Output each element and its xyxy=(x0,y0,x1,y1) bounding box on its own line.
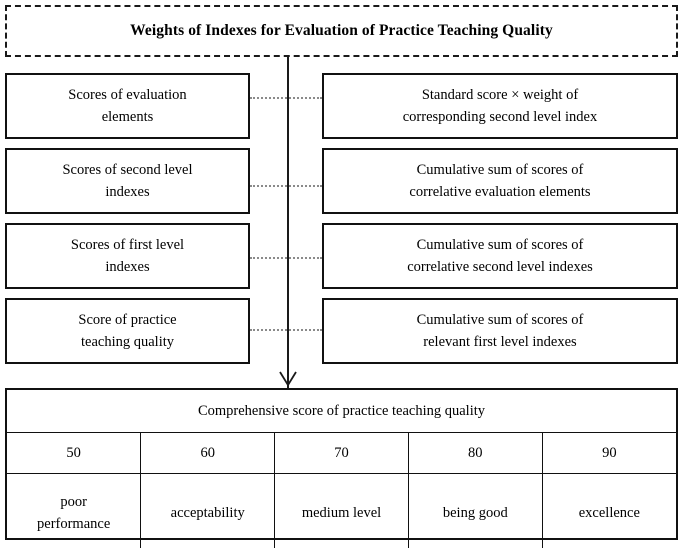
node-label-line1: Cumulative sum of scores of xyxy=(417,237,584,253)
node-label: Scores of evaluation elements xyxy=(68,84,186,129)
score-cell-60: 60 xyxy=(141,433,275,474)
score-table: Comprehensive score of practice teaching… xyxy=(7,390,676,548)
node-label: Scores of second level indexes xyxy=(62,159,192,204)
node-label: Scores of first level indexes xyxy=(71,234,184,279)
node-label-line2: corresponding second level index xyxy=(403,109,597,125)
node-scores-of-first-level-indexes: Scores of first level indexes xyxy=(5,223,250,289)
level-cell-excellence: excellence xyxy=(542,474,676,548)
dotted-connector-1 xyxy=(250,97,322,99)
node-label-line2: correlative second level indexes xyxy=(407,259,593,275)
node-label-line2: relevant first level indexes xyxy=(423,334,576,350)
node-label-line2: teaching quality xyxy=(81,334,174,350)
score-cell-90: 90 xyxy=(542,433,676,474)
flow-arrow-line xyxy=(287,57,289,388)
node-scores-of-second-level-indexes: Scores of second level indexes xyxy=(5,148,250,214)
node-label-line2: elements xyxy=(102,109,154,125)
level-cell-poor-performance: poor performance xyxy=(7,474,141,548)
node-label-line1: Scores of evaluation xyxy=(68,87,186,103)
level-cell-being-good: being good xyxy=(408,474,542,548)
node-label-line1: Score of practice xyxy=(78,312,176,328)
score-cell-80: 80 xyxy=(408,433,542,474)
node-standard-score-times-weight: Standard score × weight of corresponding… xyxy=(322,73,678,139)
node-label: Score of practice teaching quality xyxy=(78,309,176,354)
score-cell-70: 70 xyxy=(275,433,409,474)
node-label-line1: Cumulative sum of scores of xyxy=(417,162,584,178)
node-label-line2: indexes xyxy=(105,259,149,275)
dotted-connector-4 xyxy=(250,329,322,331)
table-caption-row: Comprehensive score of practice teaching… xyxy=(7,390,676,433)
node-label-line2: indexes xyxy=(105,184,149,200)
table-levels-row: poor performance acceptability medium le… xyxy=(7,474,676,548)
node-label-line2: correlative evaluation elements xyxy=(409,184,590,200)
dotted-connector-3 xyxy=(250,257,322,259)
diagram-title: Weights of Indexes for Evaluation of Pra… xyxy=(130,22,553,41)
diagram-title-box: Weights of Indexes for Evaluation of Pra… xyxy=(5,5,678,57)
node-scores-of-evaluation-elements: Scores of evaluation elements xyxy=(5,73,250,139)
node-cumulative-sum-second-level-indexes: Cumulative sum of scores of correlative … xyxy=(322,223,678,289)
node-label: Cumulative sum of scores of relevant fir… xyxy=(417,309,584,354)
dotted-connector-2 xyxy=(250,185,322,187)
node-label-line1: Cumulative sum of scores of xyxy=(417,312,584,328)
node-label-line1: Scores of second level xyxy=(62,162,192,178)
node-cumulative-sum-first-level-indexes: Cumulative sum of scores of relevant fir… xyxy=(322,298,678,364)
node-label-line1: Scores of first level xyxy=(71,237,184,253)
level-cell-acceptability: acceptability xyxy=(141,474,275,548)
node-label: Standard score × weight of corresponding… xyxy=(403,84,597,129)
node-score-of-practice-teaching-quality: Score of practice teaching quality xyxy=(5,298,250,364)
node-cumulative-sum-evaluation-elements: Cumulative sum of scores of correlative … xyxy=(322,148,678,214)
diagram-canvas: Weights of Indexes for Evaluation of Pra… xyxy=(0,0,685,548)
table-scores-row: 50 60 70 80 90 xyxy=(7,433,676,474)
level-cell-medium-level: medium level xyxy=(275,474,409,548)
node-label: Cumulative sum of scores of correlative … xyxy=(409,159,590,204)
table-caption: Comprehensive score of practice teaching… xyxy=(7,390,676,433)
comprehensive-score-table: Comprehensive score of practice teaching… xyxy=(5,388,678,540)
node-label: Cumulative sum of scores of correlative … xyxy=(407,234,593,279)
score-cell-50: 50 xyxy=(7,433,141,474)
node-label-line1: Standard score × weight of xyxy=(422,87,578,103)
flow-arrow-head-icon xyxy=(278,368,298,388)
